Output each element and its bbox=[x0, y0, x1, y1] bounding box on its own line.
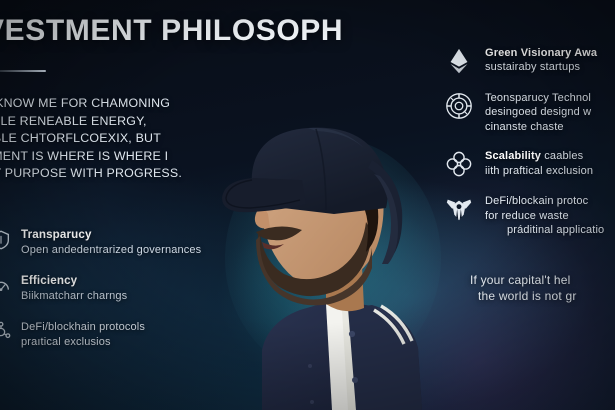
list-item-heading: DeFi/blockhain protocols bbox=[21, 320, 145, 335]
slide-title: VESTMENT PHILOSOPH bbox=[0, 14, 404, 48]
list-item-text: Efficiency Biikmatcharr charngs bbox=[21, 274, 127, 303]
intro-paragraph: LE KNOW ME FOR CHAMONING VABLE RENEABLE … bbox=[0, 95, 226, 183]
list-item-line: Teonsparucy Technol bbox=[485, 91, 591, 105]
wings-emblem-icon bbox=[444, 194, 474, 224]
list-item-text: Teonsparucy Technol desingoed designd w … bbox=[485, 91, 591, 134]
list-item-text: Transparucy Open andedentrarized governa… bbox=[21, 228, 201, 257]
list-item-heading: Green Visionary Awa bbox=[485, 47, 597, 59]
quote-line: the world is not gr bbox=[470, 288, 615, 304]
list-item-sub: Biikmatcharr charngs bbox=[21, 289, 127, 304]
clover-icon bbox=[444, 149, 474, 179]
list-item-line: práditinal applicatio bbox=[485, 223, 604, 237]
list-item[interactable]: Transparucy Open andedentrarized governa… bbox=[0, 228, 222, 257]
list-item[interactable]: Efficiency Biikmatcharr charngs bbox=[0, 274, 222, 303]
right-feature-list: Green Visionary Awa sustairaby startups … bbox=[444, 46, 615, 252]
list-item-sub: sustairaby startups bbox=[485, 60, 597, 74]
list-item-sub: iith praftical exclusion bbox=[485, 164, 593, 178]
list-item-line: DeFi/blockain protoc bbox=[485, 194, 604, 208]
target-circle-icon bbox=[444, 91, 474, 121]
list-item-heading: Scalability bbox=[485, 150, 541, 162]
gauge-icon bbox=[0, 275, 12, 297]
list-item-heading-rest: caables bbox=[541, 150, 583, 162]
intro-line: STMENT IS WHERE IS WHERE I bbox=[0, 148, 226, 166]
list-item-text: Green Visionary Awa sustairaby startups bbox=[485, 46, 597, 75]
ethereum-icon bbox=[444, 46, 474, 76]
list-item-sub: Open andedentrarized governances bbox=[21, 243, 201, 258]
intro-line: ECT PURPOSE WITH PROGRESS. bbox=[0, 165, 226, 183]
node-icon bbox=[0, 321, 12, 343]
list-item[interactable]: Green Visionary Awa sustairaby startups bbox=[444, 46, 615, 76]
list-item[interactable]: Teonsparucy Technol desingoed designd w … bbox=[444, 91, 615, 134]
list-item-text: DeFi/blockain protoc for reduce waste pr… bbox=[485, 194, 604, 237]
left-feature-list: Transparucy Open andedentrarized governa… bbox=[0, 228, 222, 367]
list-item-heading: Transparucy bbox=[21, 228, 201, 243]
list-item-line: for reduce waste bbox=[485, 209, 604, 223]
intro-line: VABLE RENEABLE ENERGY, bbox=[0, 113, 226, 131]
slide-canvas: VESTMENT PHILOSOPH LE KNOW ME FOR CHAMON… bbox=[0, 0, 615, 410]
closing-quote: If your capital't hel the world is not g… bbox=[470, 272, 615, 304]
list-item-text: DeFi/blockhain protocols praıtical exclu… bbox=[21, 320, 145, 349]
list-item[interactable]: Scalability caables iith praftical exclu… bbox=[444, 149, 615, 179]
list-item-line: cinanste chaste bbox=[485, 120, 591, 134]
intro-line: EABLE CHTORFLCOEXIX, BUT bbox=[0, 130, 226, 148]
list-item-text: Scalability caables iith praftical exclu… bbox=[485, 149, 593, 178]
list-item[interactable]: DeFi/blockain protoc for reduce waste pr… bbox=[444, 194, 615, 237]
list-item-sub: praıtical exclusios bbox=[21, 335, 145, 350]
intro-line: LE KNOW ME FOR CHAMONING bbox=[0, 95, 226, 113]
quote-line: If your capital't hel bbox=[470, 272, 615, 288]
shield-icon bbox=[0, 229, 12, 251]
person-photo bbox=[222, 118, 444, 410]
list-item-line: desingoed designd w bbox=[485, 105, 591, 119]
title-divider bbox=[0, 70, 46, 72]
list-item-heading: Efficiency bbox=[21, 274, 127, 289]
list-item[interactable]: DeFi/blockhain protocols praıtical exclu… bbox=[0, 320, 222, 349]
